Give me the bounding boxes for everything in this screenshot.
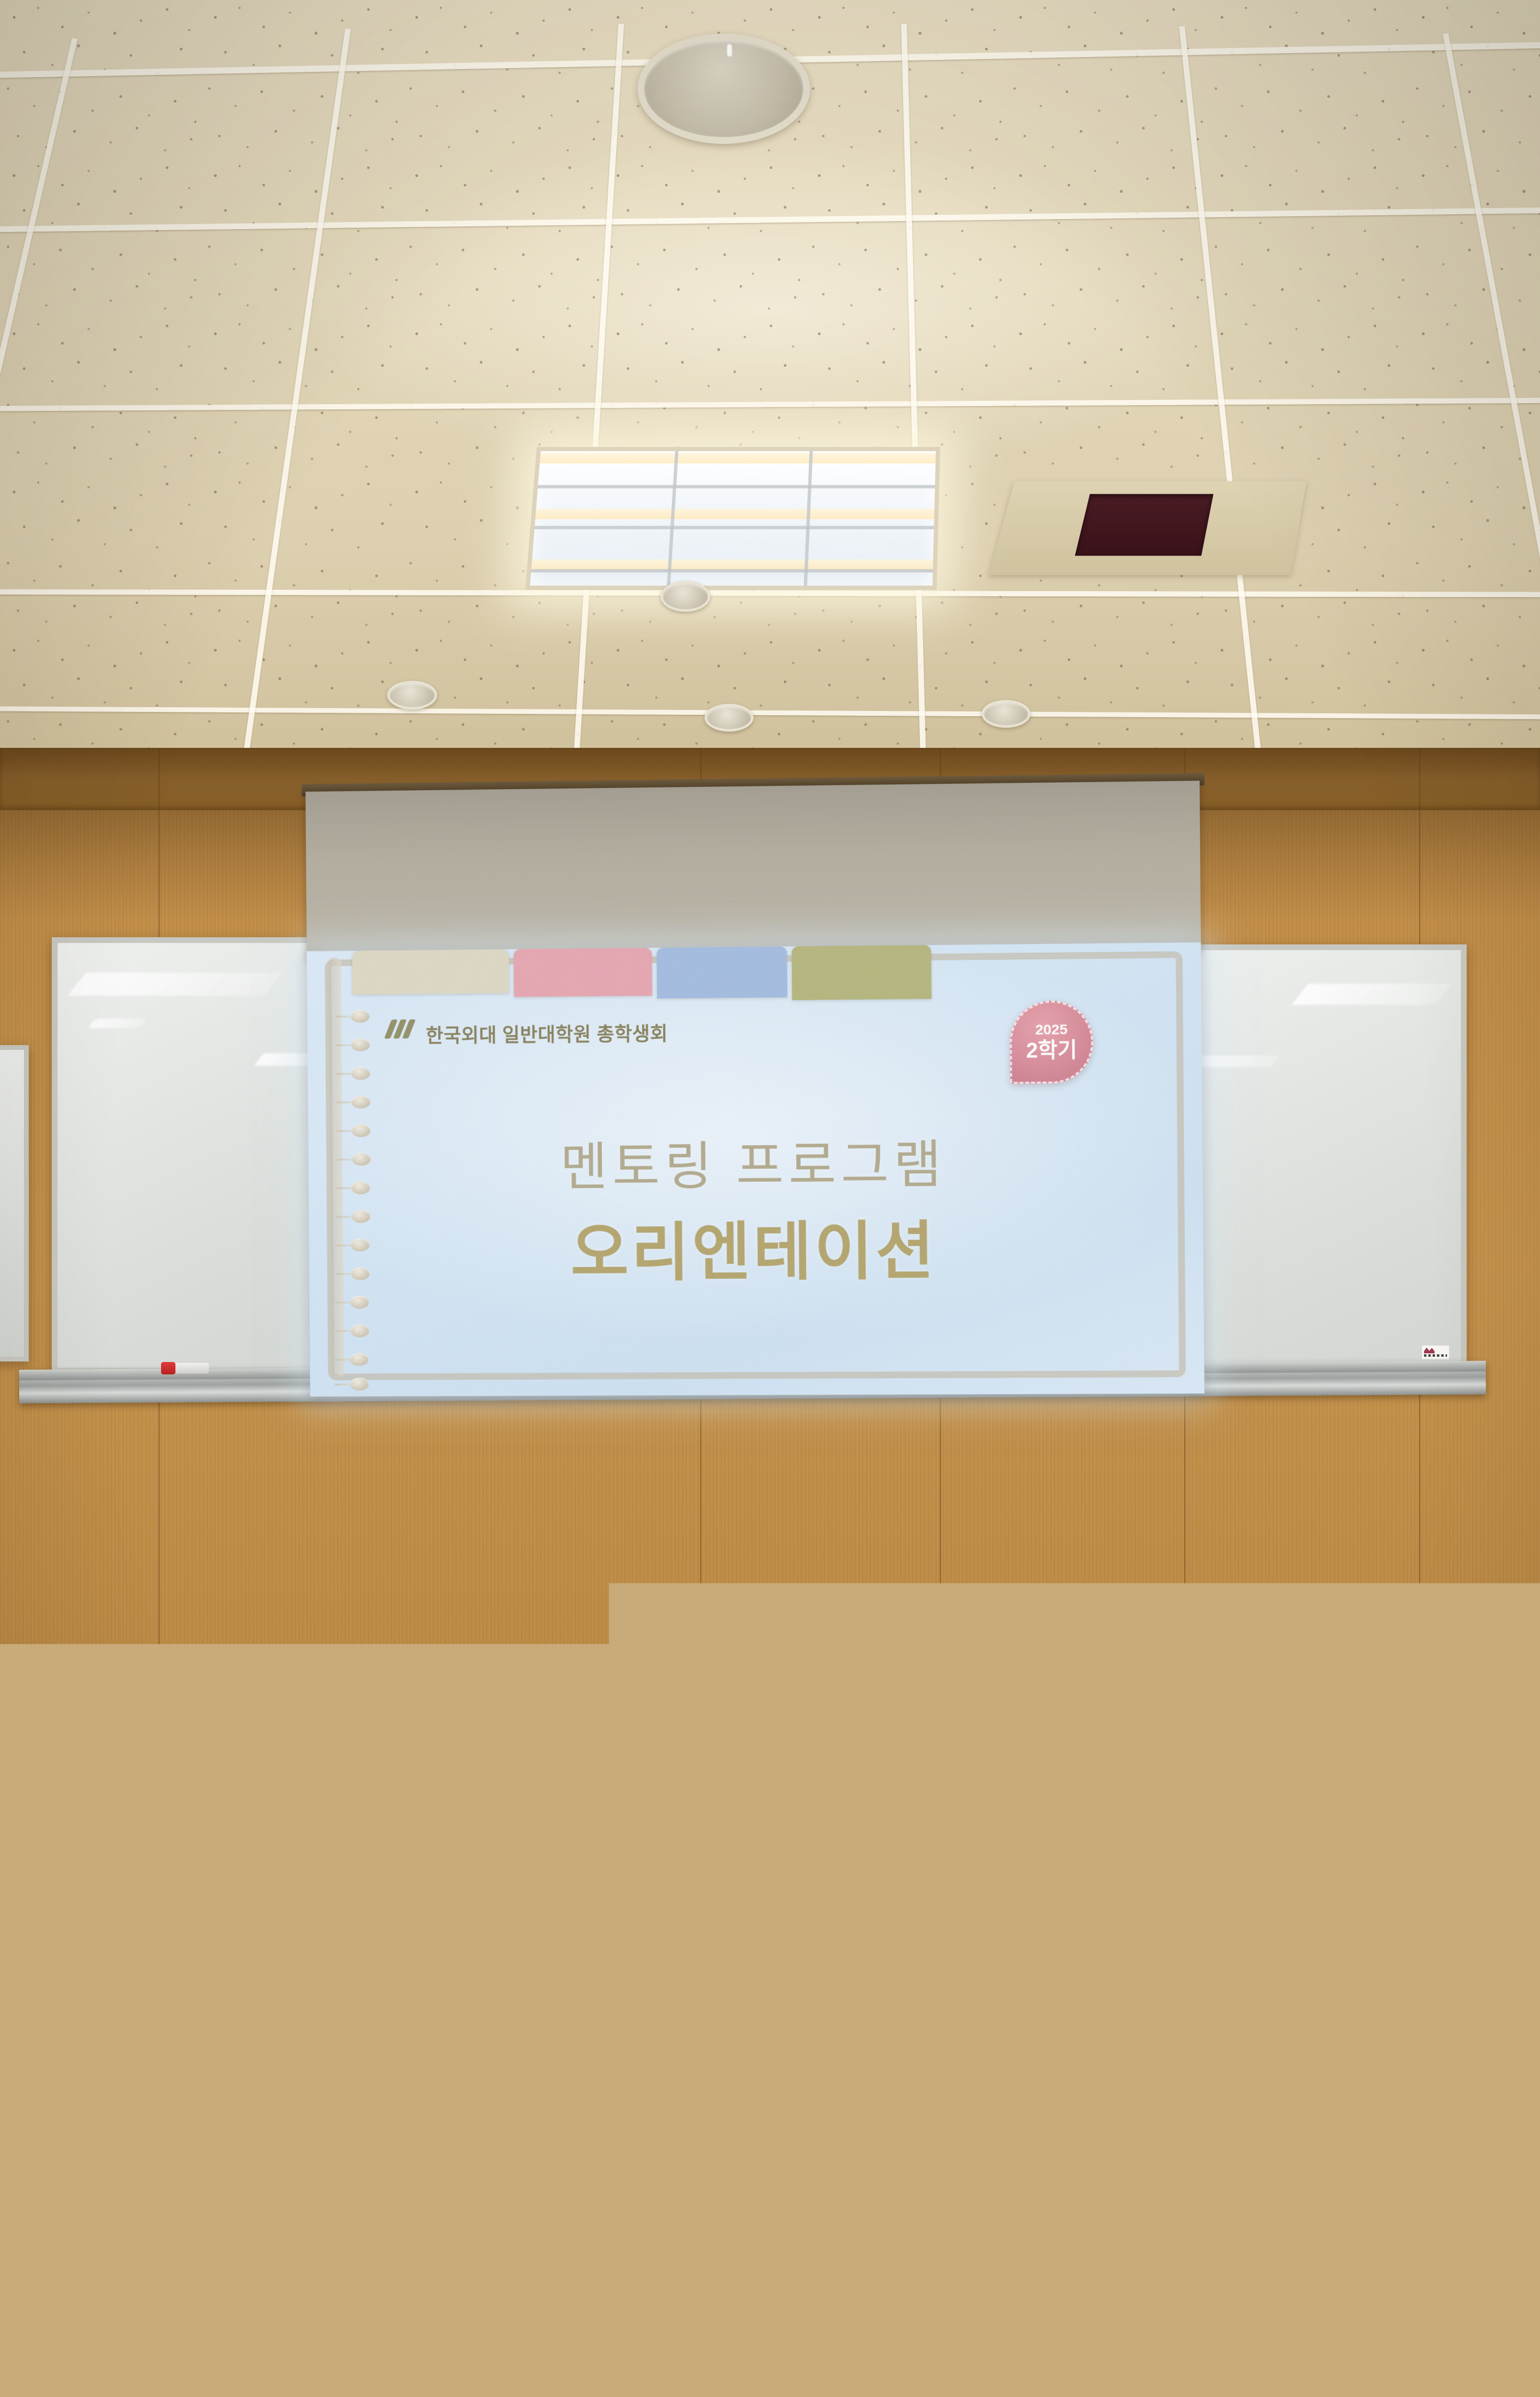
chair-ventilation-slots xyxy=(1042,1876,1285,1956)
screen-blank-area xyxy=(305,781,1201,961)
desk-leg xyxy=(403,1822,415,2023)
chair-ventilation-slots xyxy=(1419,1887,1540,1966)
desk-leg xyxy=(885,1798,904,2023)
light-warm-strip xyxy=(531,559,933,570)
desk-leg xyxy=(446,1803,466,2004)
desk-caster xyxy=(284,2282,301,2294)
whiteboard-reflection xyxy=(87,1019,148,1028)
desk-leg xyxy=(326,2028,345,2258)
desk-back-right xyxy=(867,1739,1540,1804)
downlight xyxy=(660,581,710,612)
chair-foreground-right xyxy=(1031,2103,1540,2397)
chair-side-nub xyxy=(25,1873,42,1931)
whiteboard-reflection xyxy=(68,973,282,996)
light-louver xyxy=(534,526,934,529)
projection-noise xyxy=(307,943,1204,1397)
speaker-highlight xyxy=(727,44,732,57)
whiteboard-reflection xyxy=(1292,984,1452,1005)
chair-top-rail xyxy=(37,1767,353,1805)
desk-leg xyxy=(925,1817,938,2047)
light-louver xyxy=(538,485,935,489)
whiteboard-brand-label xyxy=(1422,1345,1449,1360)
light-warm-strip xyxy=(535,509,935,519)
desk-leg xyxy=(1016,2095,1029,2354)
desk-leg xyxy=(288,2047,300,2287)
chair-ventilation-slots xyxy=(0,2261,174,2369)
vent-opening xyxy=(1075,494,1213,556)
whiteboard-reflection xyxy=(1190,1056,1281,1067)
projector-screen: 한국외대 일반대학원 총학생회 2025 2학기 멘토링 프로그램 오리엔테이션 xyxy=(305,781,1204,1397)
desk-leg xyxy=(968,2076,988,2325)
projected-slide: 한국외대 일반대학원 총학생회 2025 2학기 멘토링 프로그램 오리엔테이션 xyxy=(307,943,1204,1397)
downlight xyxy=(705,704,753,732)
ceiling-vent-panel xyxy=(989,481,1307,575)
light-louver xyxy=(531,569,933,572)
ceiling-light-panel xyxy=(525,447,940,590)
light-warm-strip xyxy=(540,453,936,464)
chair-foreground-left xyxy=(0,2204,225,2397)
chair-ventilation-slots xyxy=(81,1817,318,1904)
whiteboard-far-left xyxy=(0,1045,29,1361)
chair-side-nub xyxy=(207,2124,225,2182)
chair-side-nub xyxy=(352,1867,369,1925)
ceiling xyxy=(0,0,1540,772)
chair-ventilation-slots xyxy=(0,2065,178,2161)
classroom-photo: 한국외대 일반대학원 총학생회 2025 2학기 멘토링 프로그램 오리엔테이션 xyxy=(0,0,1540,2397)
chair-top-rail xyxy=(1375,1842,1540,1877)
chair-side-nub xyxy=(1321,1920,1338,1978)
downlight xyxy=(982,700,1031,728)
downlight xyxy=(387,681,437,710)
ceiling-speaker xyxy=(637,34,810,144)
marker-red-cap[interactable] xyxy=(161,1362,175,1374)
chair-top-rail xyxy=(996,1830,1321,1865)
marker-blue[interactable] xyxy=(1360,1363,1395,1373)
chair-ventilation-slots xyxy=(1138,2159,1521,2285)
desk-caster xyxy=(1011,2349,1029,2362)
chair-back-left xyxy=(27,1771,366,1983)
chair-side-nub xyxy=(1033,2259,1051,2317)
